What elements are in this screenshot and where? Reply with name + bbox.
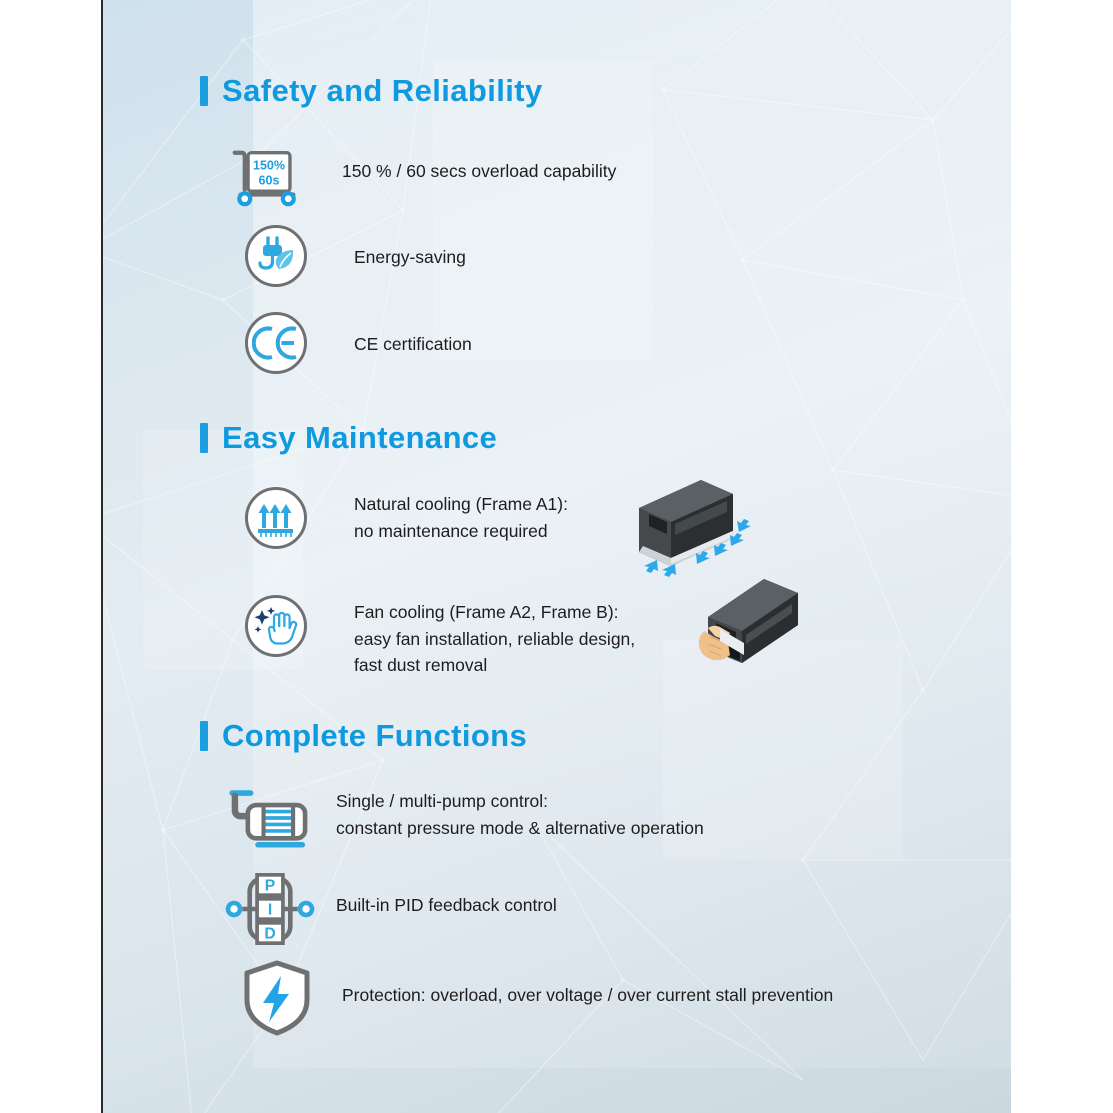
fan-cleaning-hand-icon (240, 595, 312, 657)
brochure-page: Safety and Reliability 150% 60s 150 % / … (0, 0, 1113, 1113)
feature-protection: Protection: overload, over voltage / ove… (236, 958, 833, 1038)
natural-cooling-airflow-icon (240, 487, 312, 549)
section-accent-bar (200, 423, 208, 453)
feature-pid-feedback: P I D Built-in PID feedback control (222, 868, 557, 950)
vfd-drive-natural-cooling-photo (605, 468, 755, 578)
overload-percent-label: 150% (253, 158, 285, 172)
overload-seconds-label: 60s (259, 174, 280, 188)
pid-letter-p: P (265, 878, 275, 895)
feature-pump-control: Single / multi-pump control: constant pr… (222, 782, 704, 854)
energy-saving-plug-leaf-icon (240, 225, 312, 287)
section-heading-complete-functions: Complete Functions (200, 718, 527, 754)
feature-ce-certification: CE certification (240, 312, 472, 374)
feature-text: CE certification (312, 312, 472, 358)
feature-text: Fan cooling (Frame A2, Frame B): easy fa… (312, 595, 635, 679)
section-accent-bar (200, 76, 208, 106)
feature-text: Natural cooling (Frame A1): no maintenan… (312, 487, 568, 544)
pid-feedback-icon: P I D (222, 868, 318, 950)
section-title: Complete Functions (222, 718, 527, 754)
feature-energy-saving: Energy-saving (240, 225, 466, 287)
section-heading-easy-maintenance: Easy Maintenance (200, 420, 497, 456)
feature-text: Protection: overload, over voltage / ove… (318, 958, 833, 1009)
section-accent-bar (200, 721, 208, 751)
ce-certification-icon (240, 312, 312, 374)
feature-text: Built-in PID feedback control (318, 868, 557, 919)
feature-text: Energy-saving (312, 225, 466, 271)
vfd-drive-fan-removal-photo (686, 565, 816, 675)
overload-cart-icon: 150% 60s (228, 140, 300, 214)
feature-text: 150 % / 60 secs overload capability (300, 140, 616, 185)
section-heading-safety-and-reliability: Safety and Reliability (200, 73, 543, 109)
feature-fan-cooling: Fan cooling (Frame A2, Frame B): easy fa… (240, 595, 635, 679)
section-title: Safety and Reliability (222, 73, 543, 109)
protection-shield-bolt-icon (236, 958, 318, 1038)
pid-letter-d: D (264, 926, 275, 943)
feature-overload-capability: 150% 60s 150 % / 60 secs overload capabi… (228, 140, 616, 214)
pid-letter-i: I (268, 902, 272, 919)
feature-natural-cooling: Natural cooling (Frame A1): no maintenan… (240, 487, 568, 549)
feature-text: Single / multi-pump control: constant pr… (318, 782, 704, 841)
section-title: Easy Maintenance (222, 420, 497, 456)
pump-control-icon (222, 782, 318, 854)
